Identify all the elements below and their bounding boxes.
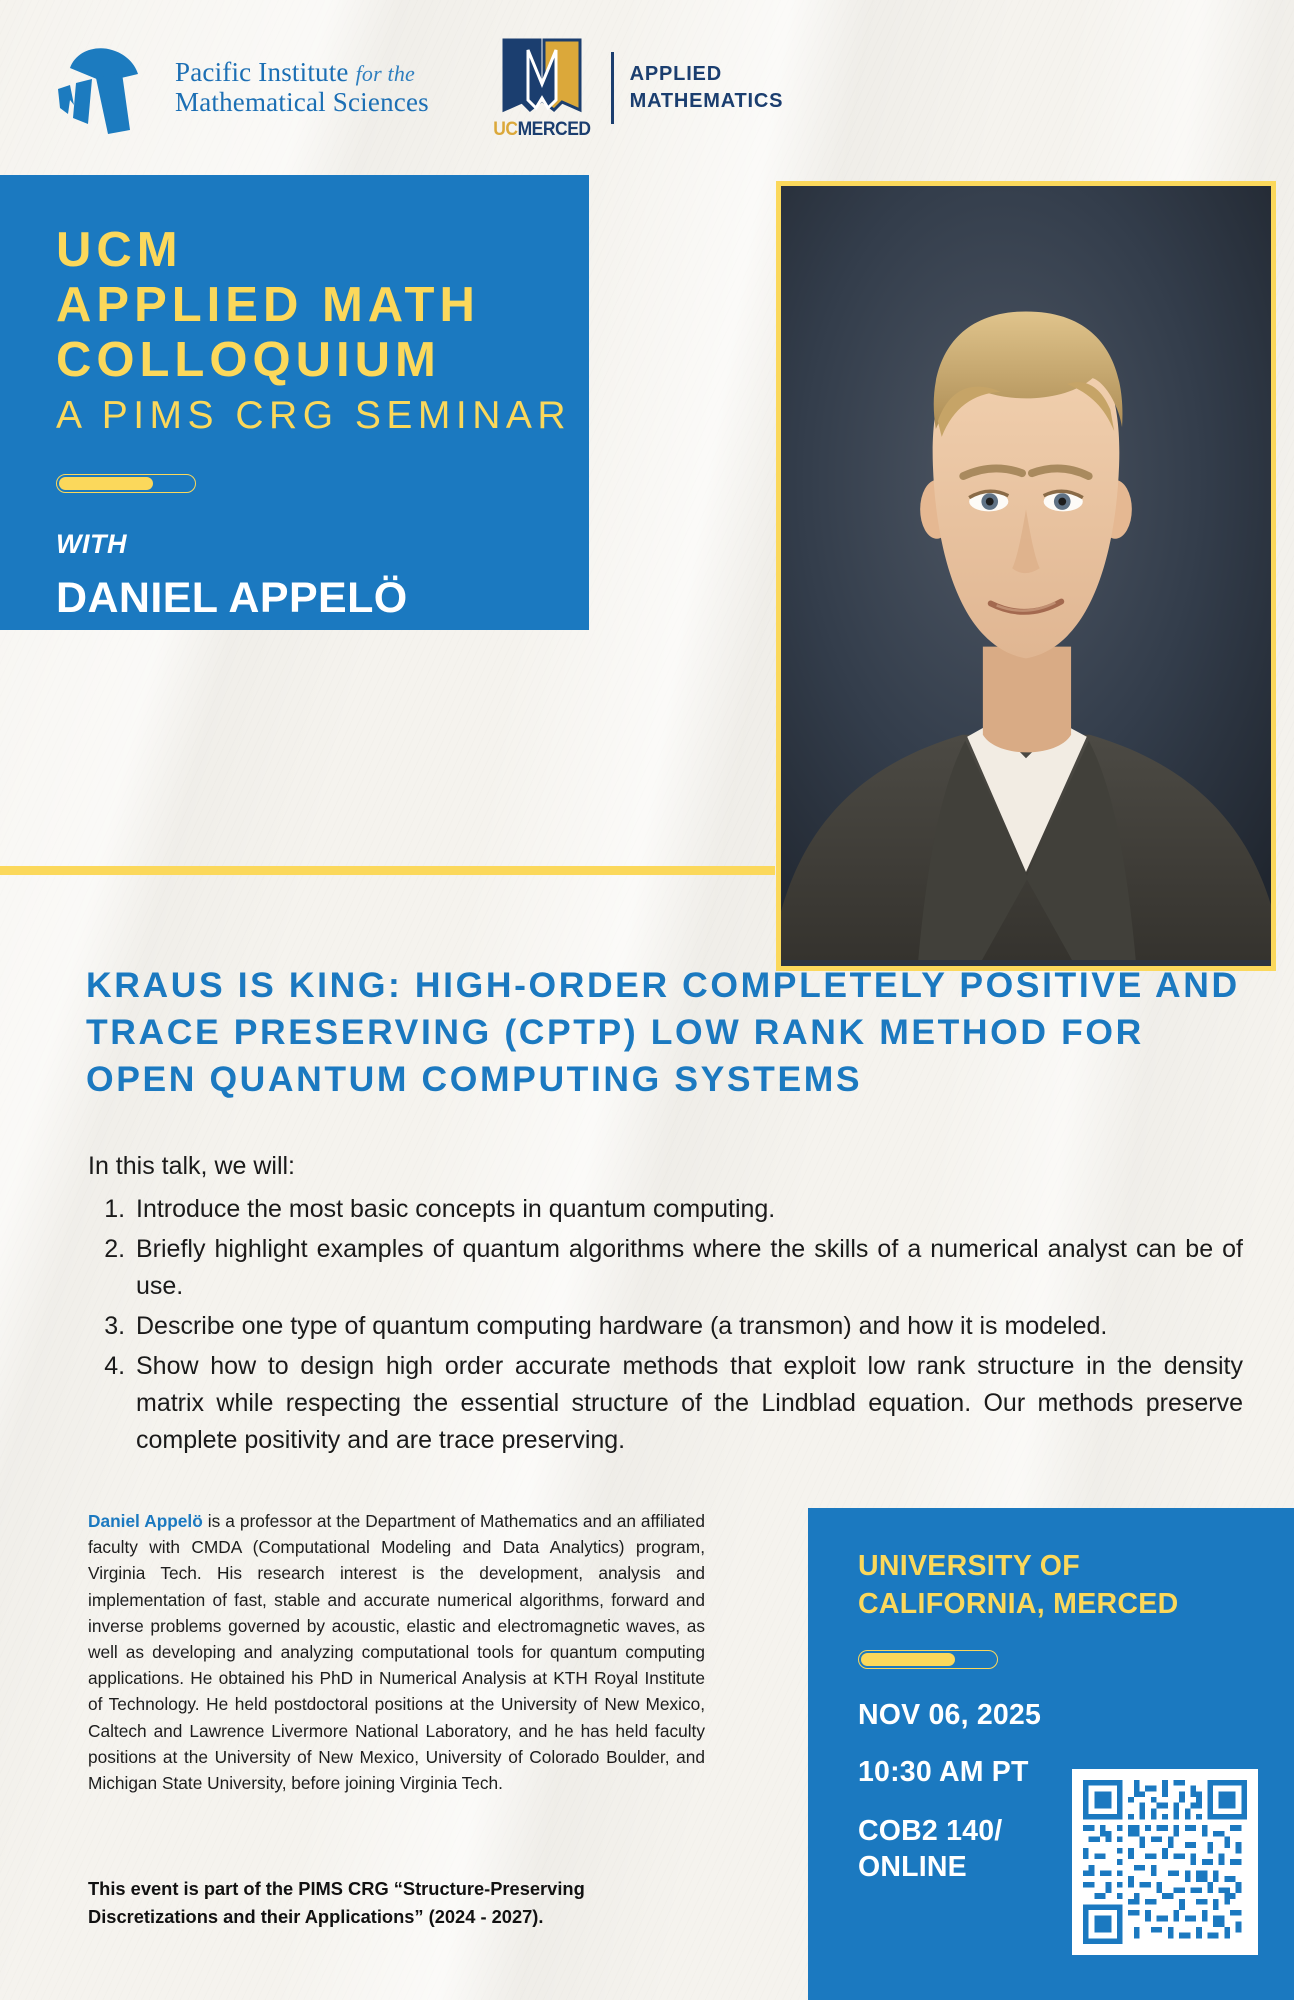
pims-logo: Pacific Institute for the Mathematical S… (52, 42, 429, 134)
banner-title-line3: COLLOQUIUM (56, 333, 589, 388)
ucmerced-department: APPLIED MATHEMATICS (630, 61, 784, 114)
banner-title-line1: UCM (56, 223, 589, 278)
banner-title-line2: APPLIED MATH (56, 278, 589, 333)
yellow-accent-rule (0, 866, 775, 875)
ucmerced-mark-wrap: UCMERCED (489, 36, 595, 139)
event-details-box: UNIVERSITY OF CALIFORNIA, MERCED NOV 06,… (808, 1508, 1294, 2000)
pims-line1-italic: for the (356, 61, 415, 86)
talk-title: KRAUS IS KING: HIGH-ORDER COMPLETELY POS… (86, 962, 1246, 1104)
talk-abstract: In this talk, we will: Introduce the mos… (88, 1148, 1243, 1462)
event-date: NOV 06, 2025 (858, 1699, 1294, 1732)
ucmerced-uc-text: UC (493, 119, 517, 140)
venue-line2: CALIFORNIA, MERCED (858, 1586, 1294, 1624)
department-line1: APPLIED (630, 61, 784, 87)
list-item: Describe one type of quantum computing h… (132, 1308, 1243, 1345)
banner-subtitle: A PIMS CRG SEMINAR (56, 394, 589, 438)
pims-line2: Mathematical Sciences (175, 88, 429, 117)
ucmerced-m-icon (500, 36, 584, 118)
logo-divider (611, 52, 614, 124)
ucmerced-merced-text: MERCED (517, 119, 590, 140)
department-line2: MATHEMATICS (630, 88, 784, 114)
list-item: Introduce the most basic concepts in qua… (132, 1191, 1243, 1228)
bio-text: is a professor at the Department of Math… (88, 1511, 705, 1793)
list-item: Show how to design high order accurate m… (132, 1348, 1243, 1459)
decorative-pill-event (858, 1650, 998, 1669)
poster-page: Pacific Institute for the Mathematical S… (0, 0, 1294, 2000)
decorative-pill-banner (56, 474, 196, 493)
with-label: WITH (56, 529, 589, 560)
venue-line1: UNIVERSITY OF (858, 1548, 1294, 1586)
qr-code-icon[interactable] (1083, 1780, 1247, 1944)
speaker-name: DANIEL APPELÖ (56, 574, 589, 623)
ucmerced-logo: UCMERCED APPLIED MATHEMATICS (489, 36, 783, 139)
pims-line1-main: Pacific Institute (175, 57, 349, 87)
list-item: Briefly highlight examples of quantum al… (132, 1231, 1243, 1305)
logo-header: Pacific Institute for the Mathematical S… (0, 0, 1294, 175)
title-banner: UCM APPLIED MATH COLLOQUIUM A PIMS CRG S… (0, 175, 589, 630)
qr-code[interactable] (1072, 1769, 1258, 1955)
pims-wordmark: Pacific Institute for the Mathematical S… (175, 58, 429, 116)
ucmerced-wordmark: UCMERCED (493, 120, 590, 139)
speaker-portrait-image (781, 186, 1271, 960)
event-venue: UNIVERSITY OF CALIFORNIA, MERCED (858, 1548, 1294, 1624)
crg-note: This event is part of the PIMS CRG “Stru… (88, 1875, 705, 1931)
pims-logo-icon (52, 42, 157, 134)
bio-speaker-name: Daniel Appelö (88, 1511, 203, 1531)
banner-title: UCM APPLIED MATH COLLOQUIUM (56, 223, 589, 388)
abstract-intro: In this talk, we will: (88, 1148, 1243, 1185)
speaker-portrait-frame (776, 181, 1276, 971)
abstract-points-list: Introduce the most basic concepts in qua… (88, 1191, 1243, 1459)
speaker-bio: Daniel Appelö is a professor at the Depa… (88, 1508, 705, 1796)
